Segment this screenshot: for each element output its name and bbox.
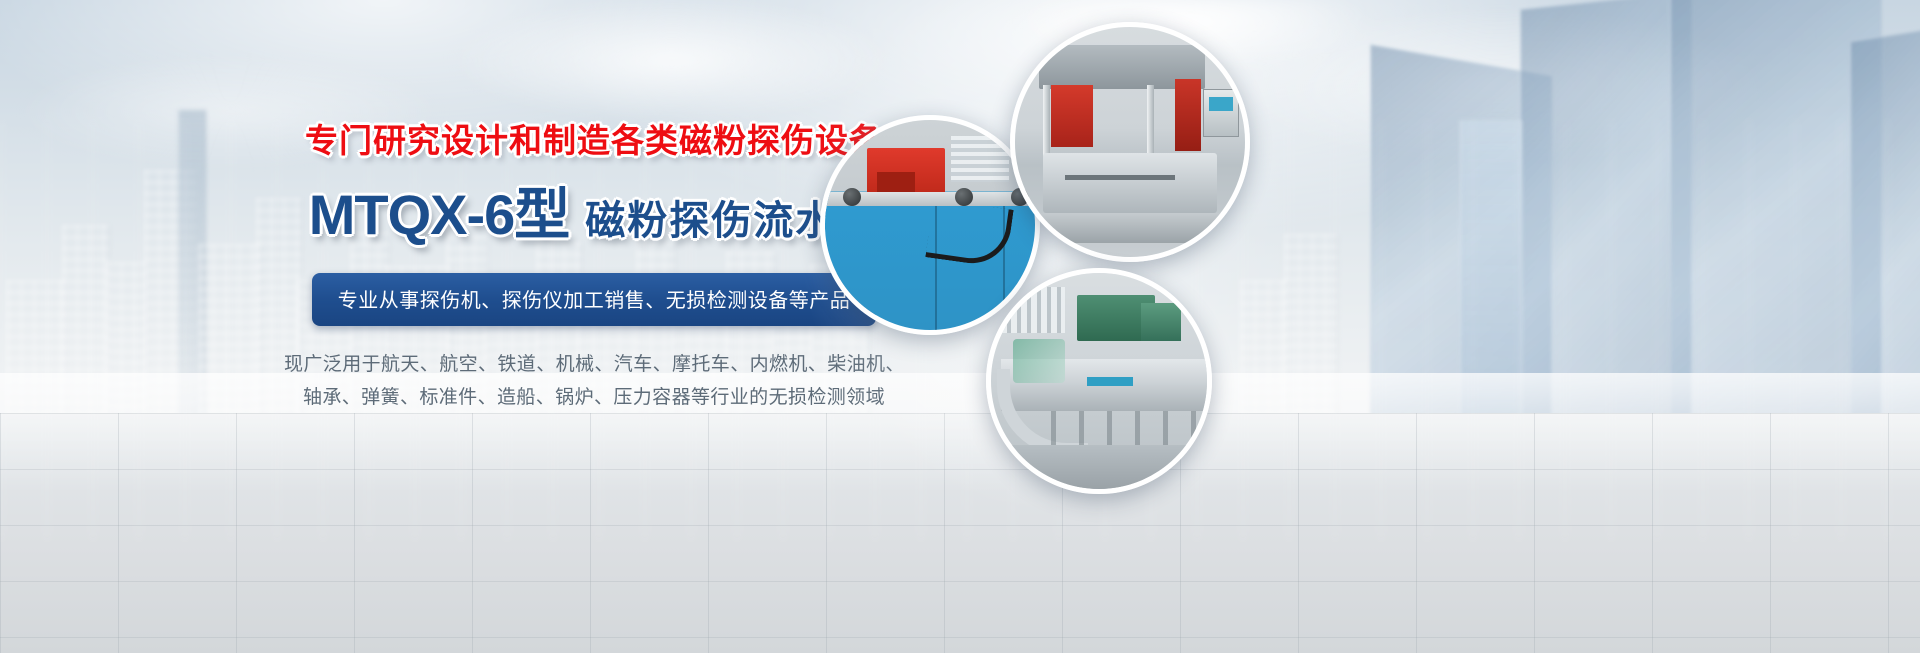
- title-model: MTQX-6型: [309, 170, 570, 251]
- main-title: MTQX-6型 磁粉探伤流水线: [284, 170, 904, 251]
- photo-booth[interactable]: [1010, 22, 1250, 262]
- hero-banner: 专门研究设计和制造各类磁粉探伤设备 MTQX-6型 磁粉探伤流水线 专业从事探伤…: [0, 0, 1920, 653]
- banner-copy: 专门研究设计和制造各类磁粉探伤设备 MTQX-6型 磁粉探伤流水线 专业从事探伤…: [284, 122, 904, 414]
- banner-blurb: 现广泛用于航天、航空、铁道、机械、汽车、摩托车、内燃机、柴油机、 轴承、弹簧、标…: [284, 348, 904, 415]
- blurb-line-2: 轴承、弹簧、标准件、造船、锅炉、压力容器等行业的无损检测领域: [284, 381, 904, 414]
- blurb-line-1: 现广泛用于航天、航空、铁道、机械、汽车、摩托车、内燃机、柴油机、: [284, 348, 904, 381]
- headline-red: 专门研究设计和制造各类磁粉探伤设备: [284, 122, 904, 161]
- tagline-pill-button[interactable]: 专业从事探伤机、探伤仪加工销售、无损检测设备等产品: [312, 273, 877, 326]
- photo-conveyor[interactable]: [986, 268, 1212, 494]
